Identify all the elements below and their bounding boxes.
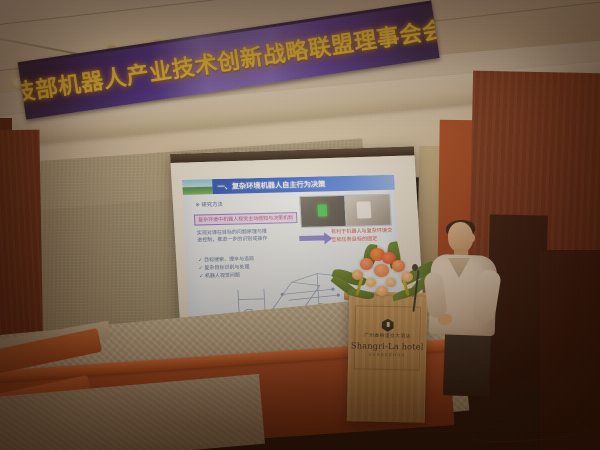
lectern: 广州香格里拉大酒店 Shangri-La hotel GUANGZHOU [347, 295, 428, 423]
slide-paragraph: 实现对课在目标的问题原理与推进控制，推进一步的识别或操作 [197, 229, 270, 245]
flower-bloom [386, 278, 396, 287]
shangri-la-crest-icon [382, 319, 394, 332]
slide-bullet-method: ※ 研究方法 [195, 200, 223, 209]
hotel-name-chinese: 广州香格里拉大酒店 [364, 333, 411, 340]
slide-title: 一、复杂环境机器人自主行为决策 [217, 179, 325, 192]
flower-bloom [374, 264, 389, 277]
microphone-icon [412, 264, 418, 271]
robot-manipulation-photo [344, 194, 392, 227]
flower-bloom [366, 278, 376, 287]
flower-bloom [392, 260, 405, 272]
conference-hall-photo: 科技部机器人产业技术创新战略联盟理事会会议 一、复杂环境机器人自主行为决策 ※ … [0, 0, 600, 450]
robot-grasp-photo [299, 195, 347, 228]
lectern-sign-panel: 广州香格里拉大酒店 Shangri-La hotel GUANGZHOU [354, 305, 421, 370]
flower-bloom [360, 258, 373, 270]
right-wood-shadow [540, 250, 600, 450]
slide-header-image [182, 179, 213, 195]
flower-arrangement [330, 242, 438, 310]
speaker-person [424, 222, 510, 392]
foliage-leaf [347, 287, 374, 301]
speaker-trousers [443, 329, 491, 397]
flower-bloom [352, 270, 363, 280]
hotel-name-english: Shangri-La hotel [351, 340, 424, 352]
flower-bloom [376, 286, 388, 296]
hotel-city-label: GUANGZHOU [369, 352, 406, 358]
slide-arrow-icon [299, 235, 325, 241]
speaker-ear [470, 234, 475, 242]
flower-bloom [402, 272, 413, 282]
slide-highlight-box: 复杂环境中机器人视觉主动感知与决策机制 [194, 212, 298, 226]
